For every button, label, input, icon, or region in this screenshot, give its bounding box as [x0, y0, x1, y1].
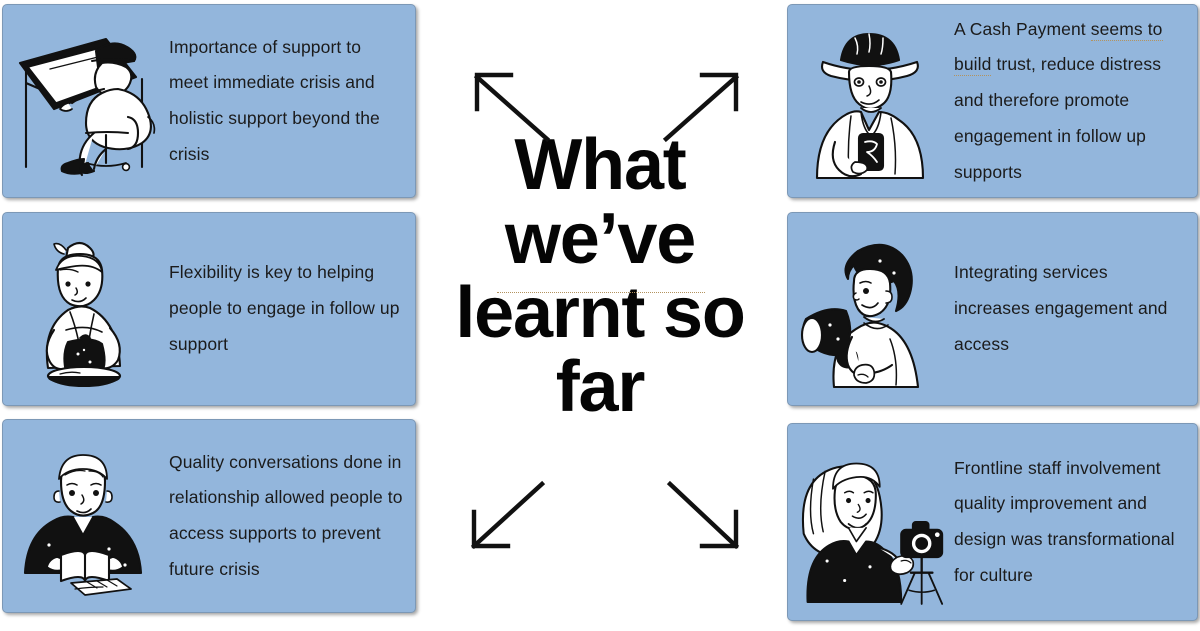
text-segment-plain-1: A Cash Payment: [954, 19, 1091, 39]
arrow-top-left-icon: [455, 55, 565, 150]
card-text-frontline-staff-involvement: Frontline staff involvement quality impr…: [948, 451, 1197, 594]
card-quality-conversations: Quality conversations done in relationsh…: [2, 419, 416, 613]
person-with-megaphone-icon: [788, 213, 948, 405]
card-integrating-services: Integrating services increases engagemen…: [787, 212, 1198, 406]
card-text-quality-conversations: Quality conversations done in relationsh…: [163, 445, 415, 588]
card-text-flexibility-is-key: Flexibility is key to helping people to …: [163, 255, 415, 362]
card-text-cash-payment-builds-trust: A Cash Payment seems to build trust, red…: [948, 12, 1197, 190]
card-text-integrating-services: Integrating services increases engagemen…: [948, 255, 1197, 362]
person-with-hat-holding-phone-icon: [788, 5, 948, 197]
card-flexibility-is-key: Flexibility is key to helping people to …: [2, 212, 416, 406]
infographic-canvas: Importance of support to meet immediate …: [0, 0, 1200, 631]
title-line-3: learnt so: [430, 276, 770, 350]
person-with-camera-tripod-icon: [788, 424, 948, 620]
card-cash-payment-builds-trust: A Cash Payment seems to build trust, red…: [787, 4, 1198, 198]
title-line-2: we’ve: [430, 202, 770, 276]
card-text-importance-of-support: Importance of support to meet immediate …: [163, 30, 415, 173]
arrow-bottom-right-icon: [650, 472, 760, 567]
arrow-top-right-icon: [648, 55, 758, 150]
card-importance-of-support: Importance of support to meet immediate …: [2, 4, 416, 198]
page-title: What we’ve learnt so far: [430, 128, 770, 425]
person-reading-book-icon: [3, 420, 163, 612]
person-at-drafting-table-icon: [3, 5, 163, 197]
person-at-pottery-wheel-icon: [3, 213, 163, 405]
title-line-4: far: [430, 350, 770, 424]
arrow-bottom-left-icon: [452, 472, 562, 567]
card-frontline-staff-involvement: Frontline staff involvement quality impr…: [787, 423, 1198, 621]
grammar-underline-title: [497, 292, 705, 293]
